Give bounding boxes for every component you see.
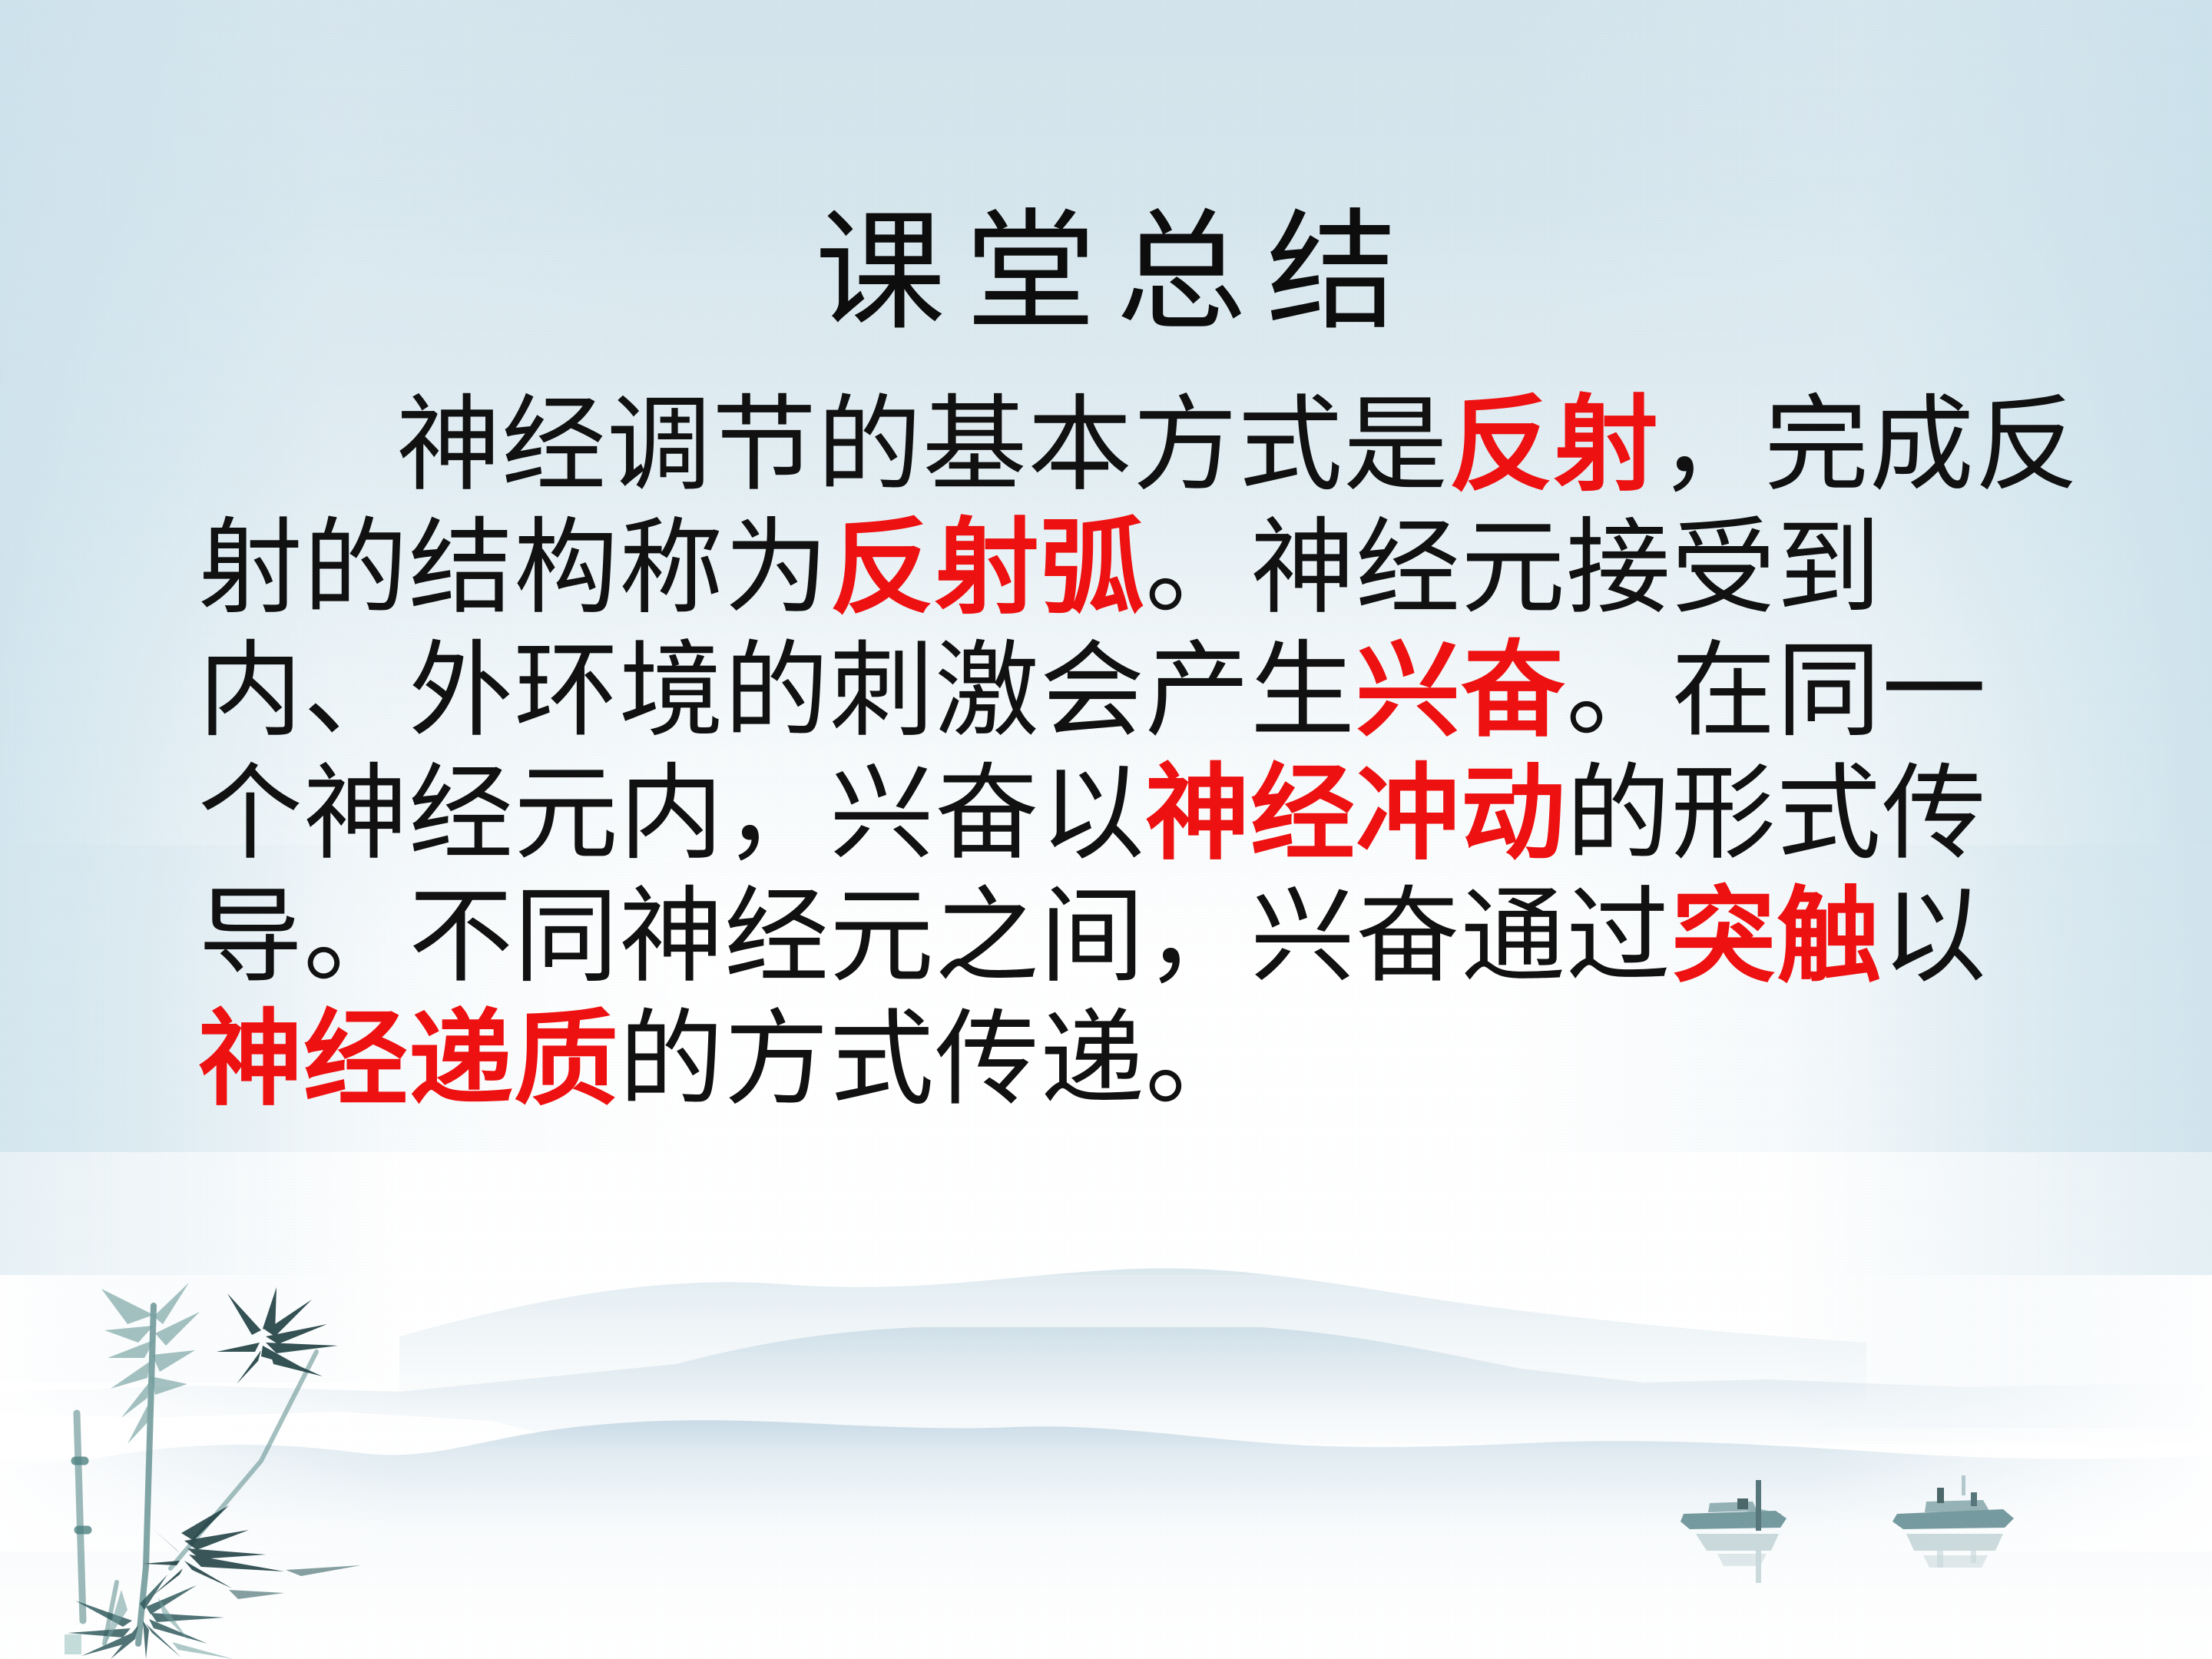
body-run: 以: [1882, 876, 1987, 998]
highlighted-term: 兴奋: [1356, 629, 1566, 752]
slide-root: 课堂总结 神经调节的基本方式是反射，完成反射的结构称为反射弧。神经元接受到内、外…: [0, 0, 2212, 1659]
body-run: 经元之间，兴奋通过: [724, 876, 1671, 998]
summary-paragraph: 神经调节的基本方式是反射，完成反射的结构称为反射弧。神经元接受到内、外环境的刺激…: [198, 384, 2080, 1121]
body-run: 内，兴奋以: [619, 753, 1145, 875]
highlighted-term: 反射弧: [829, 506, 1145, 629]
slide-title: 课堂总结: [0, 201, 2212, 345]
body-run: 环境的刺激会产生: [514, 631, 1356, 752]
body-run: 式传递。: [829, 999, 1250, 1121]
body-run: 的方: [619, 999, 829, 1121]
highlighted-term: 神经冲动: [1145, 752, 1566, 875]
highlighted-term: 反射: [1449, 383, 1659, 506]
paragraph-runs: 神经调节的基本方式是反射，完成反射的结构称为反射弧。神经元接受到内、外环境的刺激…: [198, 385, 2080, 1121]
body-run: 神经调节的基本方式是: [396, 385, 1449, 506]
body-run: 的结构称为: [303, 508, 829, 629]
highlighted-term: 神经递质: [198, 998, 619, 1121]
highlighted-term: 突触: [1671, 875, 1882, 998]
